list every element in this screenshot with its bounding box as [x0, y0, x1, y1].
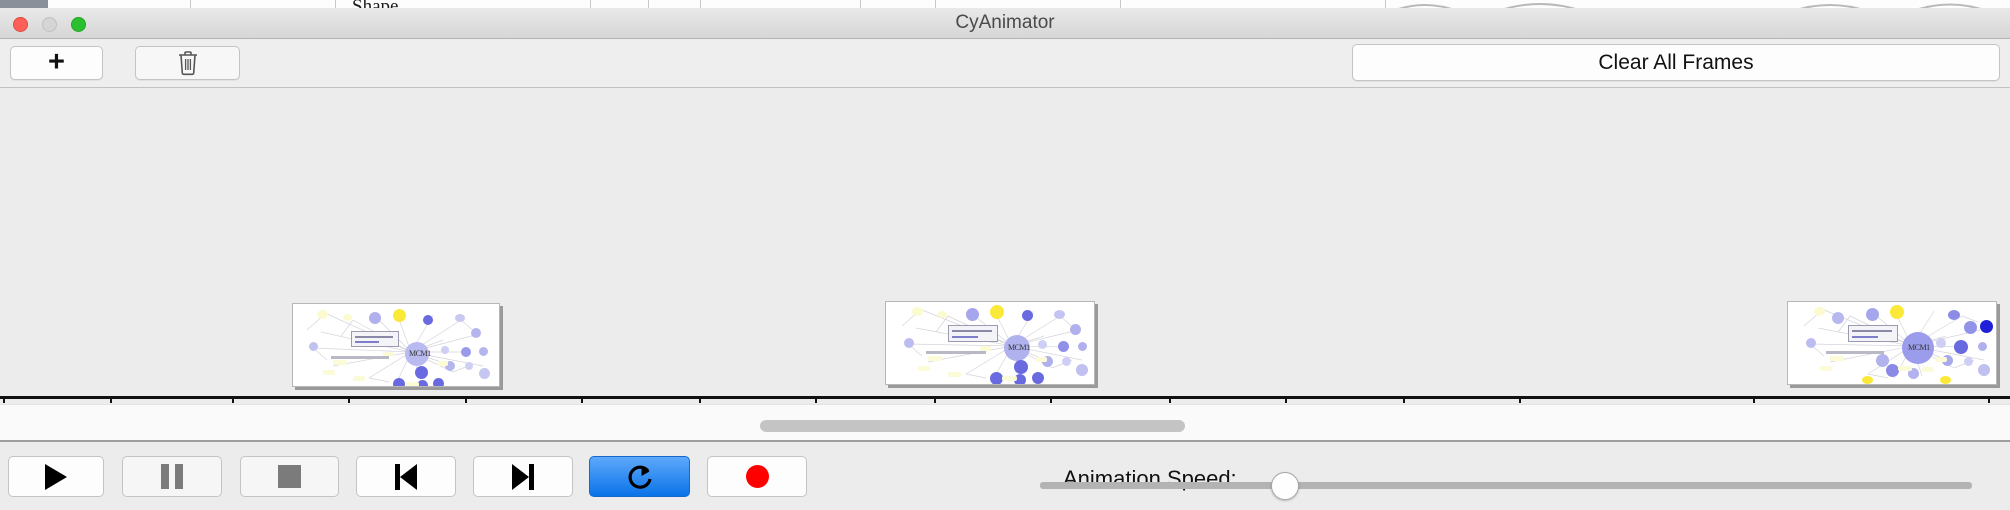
plus-icon: +	[48, 51, 65, 74]
pause-icon	[161, 464, 183, 489]
timeline-axis-line	[0, 396, 2010, 399]
animation-speed-slider-track[interactable]	[1040, 482, 1972, 489]
next-frame-button[interactable]	[473, 456, 573, 497]
clear-all-frames-button[interactable]: Clear All Frames	[1352, 44, 2000, 81]
node-annotation-callout	[948, 325, 998, 342]
axis-tick-major	[3, 399, 5, 403]
axis-tick-minor	[1285, 399, 1287, 403]
window-titlebar: CyAnimator	[0, 8, 2010, 39]
timeline-horizontal-scrollbar[interactable]	[0, 404, 2010, 440]
axis-tick-minor	[581, 399, 583, 403]
scrollbar-thumb[interactable]	[760, 420, 1185, 432]
loop-icon	[625, 462, 655, 492]
hub-node-label: MCM1	[1008, 343, 1030, 352]
axis-tick-major	[465, 399, 467, 403]
axis-tick-major	[699, 399, 701, 403]
axis-tick-major	[1403, 399, 1405, 403]
frame-toolbar: + Clear All Frames	[0, 39, 2010, 88]
axis-tick-major	[232, 399, 234, 403]
stop-icon	[278, 465, 301, 488]
hub-node-label: MCM1	[1908, 343, 1930, 352]
play-button[interactable]	[8, 456, 104, 497]
timeline-frame-thumbnail[interactable]: MCM1	[292, 303, 500, 387]
previous-frame-button[interactable]	[356, 456, 456, 497]
stop-button[interactable]	[240, 456, 339, 497]
add-frame-button[interactable]: +	[10, 46, 103, 80]
axis-tick-minor	[1753, 399, 1755, 403]
axis-tick-minor	[1519, 399, 1521, 403]
hub-node-label: MCM1	[409, 349, 431, 358]
node-annotation-callout	[351, 331, 399, 347]
skip-next-icon	[512, 464, 534, 490]
network-thumbnail-canvas: MCM1	[1788, 302, 1996, 384]
network-thumbnail-canvas: MCM1	[886, 302, 1094, 384]
timeline-frame-thumbnail[interactable]: MCM1	[885, 301, 1095, 385]
axis-tick-minor	[815, 399, 817, 403]
axis-tick-minor	[1988, 399, 1990, 403]
cyanimator-window: Shape CyAnimator + Clear All Fram	[0, 0, 2010, 510]
axis-tick-minor	[1050, 399, 1052, 403]
axis-tick-minor	[110, 399, 112, 403]
pause-button[interactable]	[122, 456, 222, 497]
trash-icon	[177, 50, 199, 76]
axis-tick-major	[1169, 399, 1171, 403]
network-thumbnail-canvas: MCM1	[293, 304, 499, 386]
play-icon	[45, 464, 67, 490]
animation-speed-slider-knob[interactable]	[1271, 472, 1299, 500]
axis-tick-major	[934, 399, 936, 403]
record-button[interactable]	[707, 456, 807, 497]
skip-previous-icon	[395, 464, 417, 490]
loop-button[interactable]	[589, 456, 690, 497]
node-annotation-callout	[1848, 325, 1898, 342]
timeline-panel[interactable]: MCM1	[0, 89, 2010, 403]
window-title: CyAnimator	[0, 12, 2010, 34]
axis-tick-minor	[348, 399, 350, 403]
record-icon	[746, 465, 769, 488]
playback-control-bar: Animation Speed:	[0, 440, 2010, 510]
timeline-frame-thumbnail[interactable]: MCM1	[1787, 301, 1997, 385]
delete-frame-button[interactable]	[135, 46, 240, 80]
clear-all-frames-label: Clear All Frames	[1598, 51, 1753, 75]
